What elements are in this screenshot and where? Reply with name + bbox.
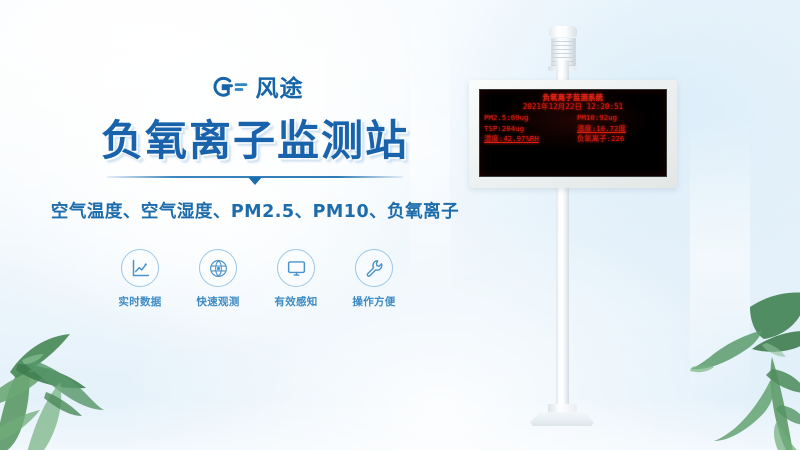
feature-icon-circle bbox=[199, 249, 237, 287]
gf-logo-icon bbox=[213, 76, 249, 102]
sensor-louver bbox=[551, 46, 576, 49]
led-datetime: 2021年12月22日 12:20:51 bbox=[484, 103, 662, 112]
led-reading-negative-oxygen-ions: 负氧离子:226 bbox=[573, 135, 662, 144]
feature-item-easy-operation[interactable]: 操作方便 bbox=[348, 249, 400, 309]
led-screen: 负氧离子监测系统 2021年12月22日 12:20:51 PM2.5:69ug… bbox=[484, 94, 662, 177]
caret-down-icon bbox=[248, 177, 262, 185]
sensor-cap bbox=[549, 26, 577, 37]
feature-item-effective-sensing[interactable]: 有效感知 bbox=[270, 249, 322, 309]
page-title: 负氧离子监测站 bbox=[0, 119, 510, 163]
led-reading-row: 湿度:42.97%RH 负氧离子:226 bbox=[484, 135, 662, 144]
feature-icon-circle bbox=[121, 249, 159, 287]
sensor-louver bbox=[551, 54, 576, 57]
led-reading-pm10: PM10:92ug bbox=[573, 114, 662, 123]
led-reading-row: TSP:204ug 温度:10.72度 bbox=[484, 125, 662, 134]
sensor-louver bbox=[551, 42, 576, 45]
brand-logo: 风途 bbox=[6, 72, 510, 106]
feature-label: 快速观测 bbox=[192, 294, 244, 309]
wrench-icon bbox=[364, 258, 385, 279]
feature-list: 实时数据 快速观测 bbox=[4, 249, 510, 309]
feature-item-realtime-data[interactable]: 实时数据 bbox=[114, 249, 166, 309]
led-reading-temperature: 温度:10.72度 bbox=[573, 125, 662, 134]
sensor-louver bbox=[551, 38, 576, 41]
feature-item-fast-observation[interactable]: 快速观测 bbox=[192, 249, 244, 309]
brand-name: 风途 bbox=[256, 78, 304, 101]
line-chart-icon bbox=[130, 258, 151, 279]
hero-text-panel: 风途 负氧离子监测站 空气温度、空气湿度、PM2.5、PM10、负氧离子 bbox=[0, 72, 510, 309]
title-divider bbox=[107, 174, 403, 186]
poster-canvas: 风途 负氧离子监测站 空气温度、空气湿度、PM2.5、PM10、负氧离子 bbox=[0, 0, 800, 450]
hero-subtitle: 空气温度、空气湿度、PM2.5、PM10、负氧离子 bbox=[0, 198, 510, 223]
radar-signal-icon bbox=[208, 258, 229, 279]
sensor-louver bbox=[551, 50, 576, 53]
feature-label: 操作方便 bbox=[348, 294, 400, 309]
feature-label: 有效感知 bbox=[270, 294, 322, 309]
pole-base-plate bbox=[530, 412, 594, 426]
feature-icon-circle bbox=[277, 249, 315, 287]
led-reading-row: PM2.5:69ug PM10:92ug bbox=[484, 114, 662, 123]
feature-icon-circle bbox=[355, 249, 393, 287]
feature-label: 实时数据 bbox=[114, 294, 166, 309]
monitor-icon bbox=[286, 258, 307, 279]
